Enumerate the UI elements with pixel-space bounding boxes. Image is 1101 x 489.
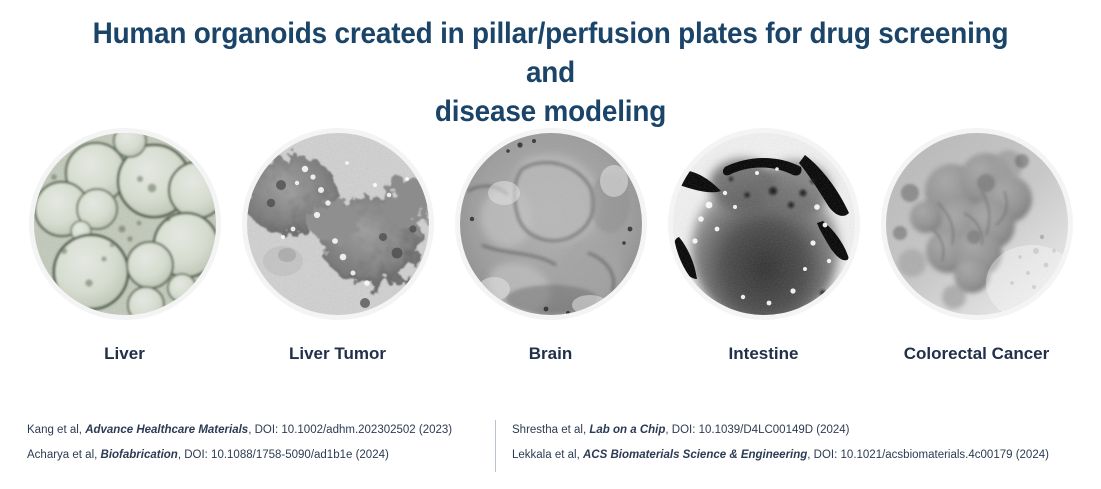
specimen-label-brain: Brain xyxy=(529,344,572,364)
liver-tumor-organoid-image xyxy=(247,133,429,315)
citation-lekkala: Lekkala et al, ACS Biomaterials Science … xyxy=(512,443,1092,468)
gallery-item-colorectal-cancer: Colorectal Cancer xyxy=(886,133,1068,364)
citation-acharya-journal: Biofabrication xyxy=(101,449,178,461)
specimen-label-liver-tumor: Liver Tumor xyxy=(289,344,386,364)
citation-shrestha: Shrestha et al, Lab on a Chip, DOI: 10.1… xyxy=(512,418,1092,443)
intestine-organoid-image xyxy=(673,133,855,315)
specimen-label-liver: Liver xyxy=(104,344,145,364)
specimen-label-intestine: Intestine xyxy=(729,344,799,364)
citation-divider xyxy=(495,420,496,472)
intestine-organoid-micrograph-icon xyxy=(673,133,855,315)
citation-kang-author: Kang et al, xyxy=(27,424,85,436)
page-title: Human organoids created in pillar/perfus… xyxy=(50,14,1051,131)
citation-block: Kang et al, Advance Healthcare Materials… xyxy=(0,418,1101,480)
gallery-item-liver-tumor: Liver Tumor xyxy=(247,133,429,364)
gallery-item-intestine: Intestine xyxy=(673,133,855,364)
citation-kang: Kang et al, Advance Healthcare Materials… xyxy=(27,418,487,443)
page-title-text: Human organoids created in pillar/perfus… xyxy=(85,14,1016,131)
liver-organoid-image xyxy=(34,133,216,315)
citation-column-left: Kang et al, Advance Healthcare Materials… xyxy=(27,418,487,468)
citation-column-right: Shrestha et al, Lab on a Chip, DOI: 10.1… xyxy=(512,418,1092,468)
citation-shrestha-doi: , DOI: 10.1039/D4LC00149D (2024) xyxy=(665,424,849,436)
citation-lekkala-journal: ACS Biomaterials Science & Engineering xyxy=(583,449,807,461)
liver-tumor-organoid-micrograph-icon xyxy=(247,133,429,315)
citation-lekkala-author: Lekkala et al, xyxy=(512,449,583,461)
liver-organoid-micrograph-icon xyxy=(34,133,216,315)
organoid-gallery: Liver xyxy=(0,133,1101,383)
gallery-item-liver: Liver xyxy=(34,133,216,364)
colorectal-cancer-organoid-image xyxy=(886,133,1068,315)
brain-organoid-image xyxy=(460,133,642,315)
gallery-item-brain: Brain xyxy=(460,133,642,364)
colorectal-cancer-organoid-micrograph-icon xyxy=(886,133,1068,315)
citation-kang-journal: Advance Healthcare Materials xyxy=(85,424,248,436)
citation-acharya-doi: , DOI: 10.1088/1758-5090/ad1b1e (2024) xyxy=(178,449,389,461)
brain-organoid-micrograph-icon xyxy=(460,133,642,315)
citation-kang-doi: , DOI: 10.1002/adhm.202302502 (2023) xyxy=(248,424,452,436)
specimen-label-colorectal-cancer: Colorectal Cancer xyxy=(904,344,1050,364)
citation-lekkala-doi: , DOI: 10.1021/acsbiomaterials.4c00179 (… xyxy=(807,449,1049,461)
citation-acharya-author: Acharya et al, xyxy=(27,449,101,461)
citation-shrestha-journal: Lab on a Chip xyxy=(589,424,665,436)
citation-acharya: Acharya et al, Biofabrication, DOI: 10.1… xyxy=(27,443,487,468)
citation-shrestha-author: Shrestha et al, xyxy=(512,424,589,436)
